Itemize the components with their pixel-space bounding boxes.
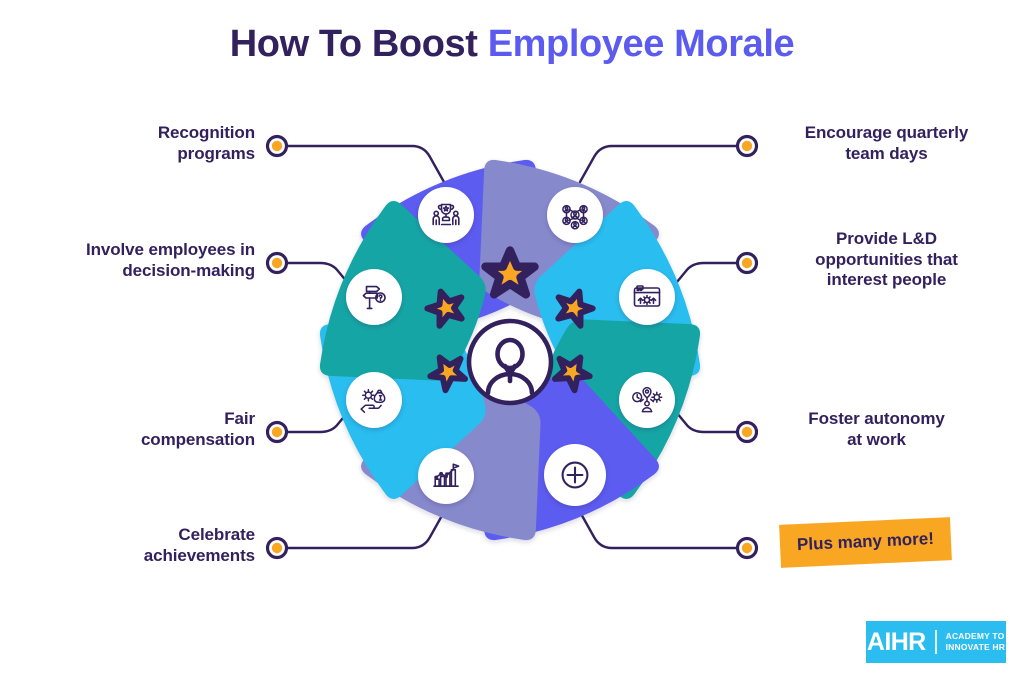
logo-wordmark: AIHR [867,630,926,655]
label-involve-employees: Involve employees in decision-making [20,240,255,281]
label-fair-compensation: Fair compensation [40,409,255,450]
label-provide-ld-opportunities: Provide L&D opportunities that interest … [769,229,1004,291]
person-in-circle-icon [469,321,551,403]
signpost-question-icon [357,280,391,314]
icon-bubble-encourage-quarterly-team-days[interactable] [547,187,603,243]
logo-divider [935,630,937,654]
icon-bubble-fair-compensation[interactable] [346,372,402,428]
people-network-icon [558,198,592,232]
plus-many-more-badge[interactable]: Plus many more! [779,517,952,568]
label-recognition-programs: Recognition programs [40,123,255,164]
icon-bubble-involve-employees[interactable] [346,269,402,325]
person-clock-pin-gear-icon [630,383,664,417]
hand-gear-moneybag-icon [357,383,391,417]
page-title-accent: Employee Morale [488,23,795,65]
aihr-logo: AIHR Academy to Innovate HR [866,621,1006,663]
logo-tagline: Academy to Innovate HR [946,631,1006,652]
growth-chart-flag-icon [429,459,463,493]
plus-circle-icon [557,457,593,493]
icon-bubble-plus-many-more[interactable] [544,444,606,506]
label-foster-autonomy: Foster autonomy at work [769,409,984,450]
icon-bubble-provide-ld-opportunities[interactable] [619,269,675,325]
page-title: How To Boost Employee Morale [0,24,1024,66]
label-celebrate-achievements: Celebrate achievements [40,525,255,566]
icon-bubble-foster-autonomy[interactable] [619,372,675,428]
dashboard-gear-icon [630,280,664,314]
morale-wheel [312,152,708,548]
label-encourage-quarterly-team-days: Encourage quarterly team days [769,123,1004,164]
trophy-team-icon [429,198,463,232]
icon-bubble-recognition-programs[interactable] [418,187,474,243]
icon-bubble-celebrate-achievements[interactable] [418,448,474,504]
page-title-primary: How To Boost [230,23,488,65]
